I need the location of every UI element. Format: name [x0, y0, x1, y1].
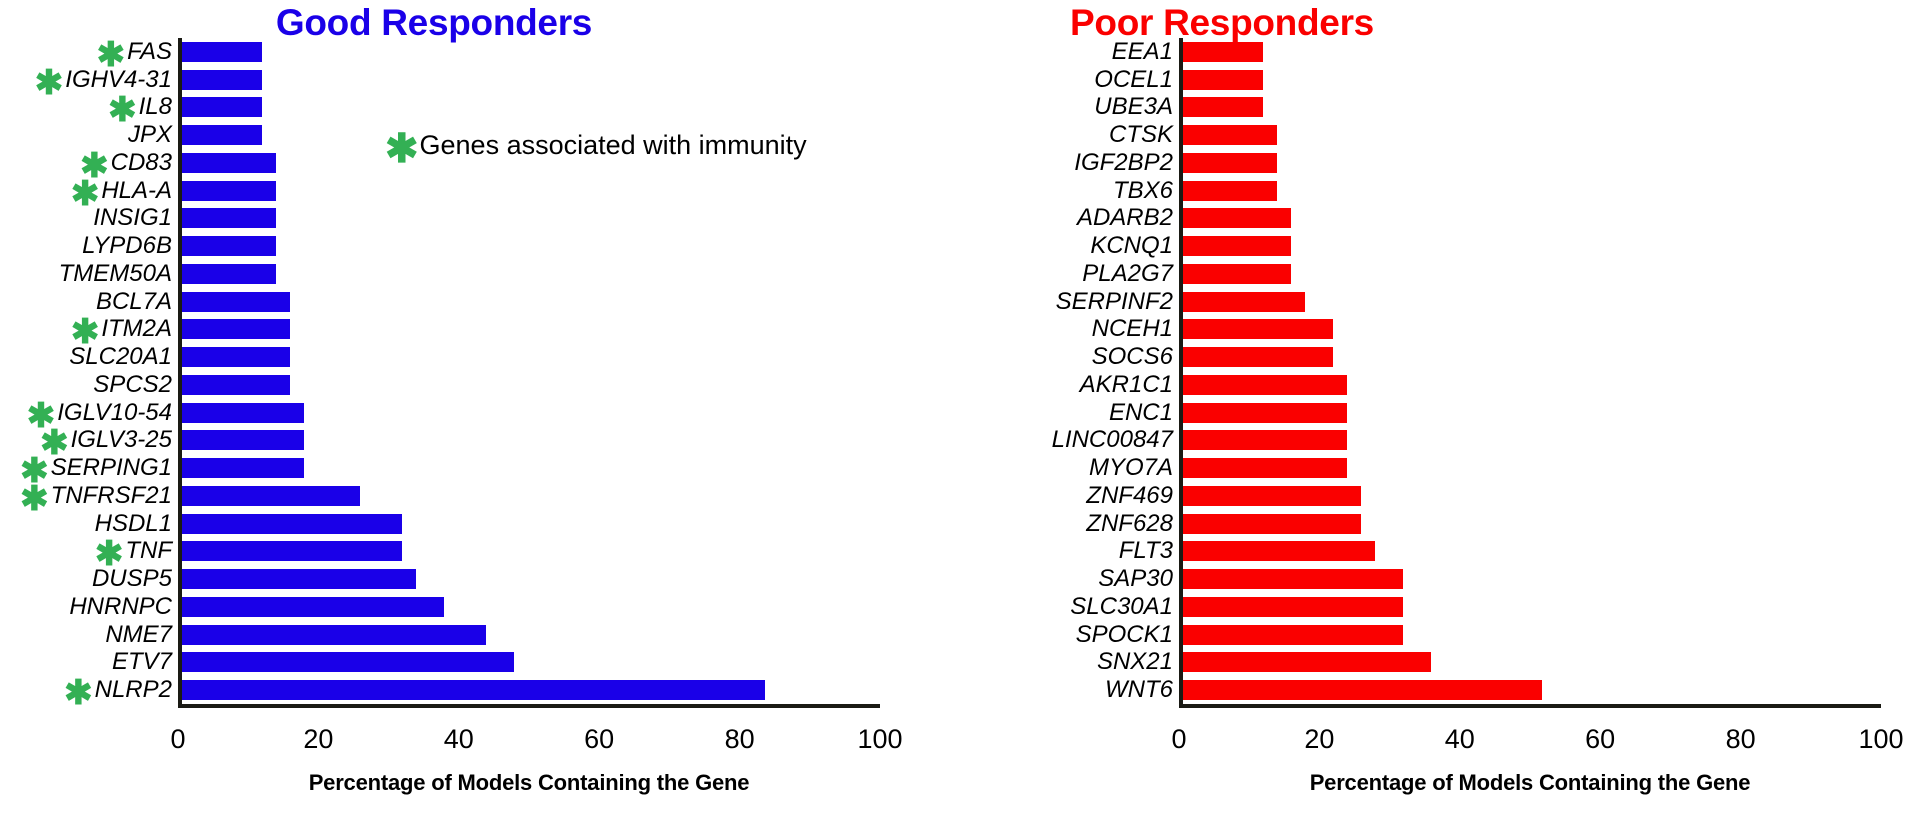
- y-axis-label-row: AKR1C1: [915, 371, 1175, 399]
- bar-insig1: [182, 208, 276, 228]
- x-axis-title-good: Percentage of Models Containing the Gene: [178, 770, 880, 796]
- bar-jpx: [182, 125, 262, 145]
- y-axis-label-row: SOCS6: [915, 343, 1175, 371]
- bar-spcs2: [182, 375, 290, 395]
- bar-iglv3-25: [182, 430, 304, 450]
- y-axis-label-row: ✱TNFRSF21: [0, 482, 174, 510]
- bar-row: [1183, 454, 1881, 482]
- bar-znf469: [1183, 486, 1361, 506]
- panel-poor-responders: Poor Responders EEA1OCEL1UBE3ACTSKIGF2BP…: [958, 0, 1916, 815]
- bar-row: [1183, 121, 1881, 149]
- bar-iglv10-54: [182, 403, 304, 423]
- gene-label: CTSK: [1109, 123, 1173, 147]
- plot-area-good: ✱FAS✱IGHV4-31✱IL8JPX✱CD83✱HLA-AINSIG1LYP…: [178, 38, 880, 708]
- bar-row: [182, 288, 880, 316]
- y-axis-label-row: SPCS2: [0, 371, 174, 399]
- bar-row: [182, 343, 880, 371]
- y-axis-label-row: ETV7: [0, 649, 174, 677]
- bar-row: [1183, 288, 1881, 316]
- x-tick-label: 40: [444, 724, 474, 755]
- y-axis-label-row: LINC00847: [915, 427, 1175, 455]
- bar-hla-a: [182, 181, 276, 201]
- bar-row: [182, 454, 880, 482]
- x-tick-label: 40: [1445, 724, 1475, 755]
- bar-akr1c1: [1183, 375, 1347, 395]
- bar-row: [1183, 621, 1881, 649]
- y-axis-labels-poor: EEA1OCEL1UBE3ACTSKIGF2BP2TBX6ADARB2KCNQ1…: [915, 38, 1175, 704]
- gene-label: FLT3: [1119, 539, 1173, 563]
- bar-row: [182, 649, 880, 677]
- gene-label: SOCS6: [1092, 345, 1173, 369]
- bar-serpinf2: [1183, 292, 1305, 312]
- bar-znf628: [1183, 514, 1361, 534]
- bar-series-poor: [1183, 38, 1881, 704]
- x-tick-label: 80: [1726, 724, 1756, 755]
- x-tick-label: 60: [1585, 724, 1615, 755]
- bar-row: [1183, 399, 1881, 427]
- bar-row: [1183, 177, 1881, 205]
- bar-row: [182, 482, 880, 510]
- gene-label: SNX21: [1097, 650, 1173, 674]
- bar-tmem50a: [182, 264, 276, 284]
- y-axis-label-row: FLT3: [915, 538, 1175, 566]
- y-axis-label-row: UBE3A: [915, 94, 1175, 122]
- gene-label: TNF: [125, 539, 172, 563]
- bar-slc30a1: [1183, 597, 1403, 617]
- y-axis-label-row: ✱FAS: [0, 38, 174, 66]
- y-axis-label-row: EEA1: [915, 38, 1175, 66]
- y-axis-label-row: SPOCK1: [915, 621, 1175, 649]
- gene-label: IL8: [139, 95, 172, 119]
- bar-row: [182, 149, 880, 177]
- y-axis-label-row: ADARB2: [915, 205, 1175, 233]
- bar-row: [1183, 343, 1881, 371]
- gene-label: SLC30A1: [1070, 595, 1173, 619]
- gene-label: MYO7A: [1089, 456, 1173, 480]
- bar-il8: [182, 97, 262, 117]
- bar-row: [1183, 676, 1881, 704]
- y-axis-label-row: JPX: [0, 121, 174, 149]
- y-axis-label-row: ✱IL8: [0, 94, 174, 122]
- bar-snx21: [1183, 652, 1431, 672]
- bar-row: [182, 232, 880, 260]
- bar-enc1: [1183, 403, 1347, 423]
- gene-label: ZNF469: [1086, 484, 1173, 508]
- bar-ocel1: [1183, 70, 1263, 90]
- bar-row: [182, 676, 880, 704]
- gene-label: EEA1: [1112, 40, 1173, 64]
- y-axis-label-row: ENC1: [915, 399, 1175, 427]
- bar-dusp5: [182, 569, 416, 589]
- bar-row: [1183, 66, 1881, 94]
- gene-label: LYPD6B: [82, 234, 172, 258]
- y-axis-label-row: KCNQ1: [915, 232, 1175, 260]
- gene-label: HLA-A: [101, 179, 172, 203]
- y-axis-label-row: DUSP5: [0, 565, 174, 593]
- x-tick-label: 20: [1304, 724, 1334, 755]
- gene-label: SPOCK1: [1076, 623, 1173, 647]
- y-axis-label-row: LYPD6B: [0, 232, 174, 260]
- bar-row: [1183, 649, 1881, 677]
- gene-label: NME7: [105, 623, 172, 647]
- bar-myo7a: [1183, 458, 1347, 478]
- y-axis-label-row: SNX21: [915, 649, 1175, 677]
- bar-tnfrsf21: [182, 486, 360, 506]
- bar-linc00847: [1183, 430, 1347, 450]
- gene-label: ZNF628: [1086, 512, 1173, 536]
- gene-label: IGF2BP2: [1074, 151, 1173, 175]
- x-axis-ticks-poor: 020406080100: [1179, 708, 1881, 754]
- gene-label: TBX6: [1113, 179, 1173, 203]
- bar-row: [182, 565, 880, 593]
- gene-label: UBE3A: [1094, 95, 1173, 119]
- gene-label: ADARB2: [1077, 206, 1173, 230]
- gene-label: ENC1: [1109, 401, 1173, 425]
- gene-label: TNFRSF21: [51, 484, 172, 508]
- panel-good-responders: Good Responders ✱ Genes associated with …: [0, 0, 958, 815]
- bar-row: [1183, 538, 1881, 566]
- bar-spock1: [1183, 625, 1403, 645]
- bar-row: [182, 510, 880, 538]
- gene-label: SPCS2: [93, 373, 172, 397]
- bar-row: [182, 316, 880, 344]
- bar-nme7: [182, 625, 486, 645]
- x-axis-ticks-good: 020406080100: [178, 708, 880, 754]
- y-axis-label-row: MYO7A: [915, 454, 1175, 482]
- y-axis-label-row: ✱HLA-A: [0, 177, 174, 205]
- bar-row: [182, 399, 880, 427]
- bar-row: [1183, 482, 1881, 510]
- gene-label: KCNQ1: [1090, 234, 1173, 258]
- gene-label: NLRP2: [95, 678, 172, 702]
- bar-socs6: [1183, 347, 1333, 367]
- y-axis-label-row: CTSK: [915, 121, 1175, 149]
- bar-row: [182, 538, 880, 566]
- gene-label: TMEM50A: [59, 262, 172, 286]
- bar-row: [182, 121, 880, 149]
- gene-label: IGLV3-25: [71, 428, 172, 452]
- gene-label: WNT6: [1105, 678, 1173, 702]
- bar-row: [1183, 149, 1881, 177]
- x-tick-label: 20: [303, 724, 333, 755]
- bar-row: [182, 427, 880, 455]
- bar-row: [1183, 371, 1881, 399]
- bar-wnt6: [1183, 680, 1542, 700]
- bar-row: [182, 621, 880, 649]
- y-axis-label-row: ✱ITM2A: [0, 316, 174, 344]
- y-axis-label-row: SLC30A1: [915, 593, 1175, 621]
- bar-hsdl1: [182, 514, 402, 534]
- bar-row: [182, 94, 880, 122]
- bar-sap30: [1183, 569, 1403, 589]
- y-axis-label-row: SERPINF2: [915, 288, 1175, 316]
- bar-ctsk: [1183, 125, 1277, 145]
- y-axis-label-row: NCEH1: [915, 316, 1175, 344]
- y-axis-label-row: ZNF469: [915, 482, 1175, 510]
- y-axis-label-row: IGF2BP2: [915, 149, 1175, 177]
- x-tick-label: 100: [857, 724, 902, 755]
- gene-label: NCEH1: [1092, 317, 1173, 341]
- x-tick-label: 80: [725, 724, 755, 755]
- plot-area-poor: EEA1OCEL1UBE3ACTSKIGF2BP2TBX6ADARB2KCNQ1…: [1179, 38, 1881, 708]
- bar-row: [182, 177, 880, 205]
- y-axis-label-row: TBX6: [915, 177, 1175, 205]
- gene-label: HSDL1: [95, 512, 172, 536]
- bar-ighv4-31: [182, 70, 262, 90]
- gene-label: ITM2A: [101, 317, 172, 341]
- bar-nlrp2: [182, 680, 765, 700]
- bar-row: [182, 371, 880, 399]
- y-axis-label-row: WNT6: [915, 676, 1175, 704]
- gene-label: BCL7A: [96, 290, 172, 314]
- bar-eea1: [1183, 42, 1263, 62]
- y-axis-label-row: ✱SERPING1: [0, 454, 174, 482]
- y-axis-label-row: ZNF628: [915, 510, 1175, 538]
- bar-row: [1183, 260, 1881, 288]
- gene-label: ETV7: [112, 650, 172, 674]
- bar-row: [1183, 316, 1881, 344]
- y-axis-label-row: ✱NLRP2: [0, 676, 174, 704]
- y-axis-label-row: ✱IGHV4-31: [0, 66, 174, 94]
- figure-root: Good Responders ✱ Genes associated with …: [0, 0, 1916, 815]
- bar-tbx6: [1183, 181, 1277, 201]
- x-tick-label: 60: [584, 724, 614, 755]
- bar-cd83: [182, 153, 276, 173]
- y-axis-label-row: ✱IGLV10-54: [0, 399, 174, 427]
- gene-label: OCEL1: [1094, 68, 1173, 92]
- bar-row: [182, 66, 880, 94]
- bar-ube3a: [1183, 97, 1263, 117]
- bar-row: [1183, 565, 1881, 593]
- bar-slc20a1: [182, 347, 290, 367]
- bar-nceh1: [1183, 319, 1333, 339]
- gene-label: LINC00847: [1052, 428, 1173, 452]
- y-axis-label-row: TMEM50A: [0, 260, 174, 288]
- bar-lypd6b: [182, 236, 276, 256]
- bar-row: [182, 205, 880, 233]
- gene-label: INSIG1: [93, 206, 172, 230]
- gene-label: CD83: [111, 151, 172, 175]
- gene-label: SAP30: [1098, 567, 1173, 591]
- bar-row: [1183, 427, 1881, 455]
- bar-serping1: [182, 458, 304, 478]
- y-axis-label-row: BCL7A: [0, 288, 174, 316]
- bar-etv7: [182, 652, 514, 672]
- bar-row: [1183, 94, 1881, 122]
- bar-row: [1183, 232, 1881, 260]
- gene-label: AKR1C1: [1080, 373, 1173, 397]
- gene-label: SERPINF2: [1056, 290, 1173, 314]
- bar-hnrnpc: [182, 597, 444, 617]
- bar-kcnq1: [1183, 236, 1291, 256]
- y-axis-label-row: OCEL1: [915, 66, 1175, 94]
- bar-row: [182, 260, 880, 288]
- bar-flt3: [1183, 541, 1375, 561]
- bar-adarb2: [1183, 208, 1291, 228]
- y-axis-label-row: PLA2G7: [915, 260, 1175, 288]
- bar-fas: [182, 42, 262, 62]
- x-tick-label: 100: [1858, 724, 1903, 755]
- bar-pla2g7: [1183, 264, 1291, 284]
- bar-row: [1183, 593, 1881, 621]
- bar-series-good: [182, 38, 880, 704]
- gene-label: SERPING1: [51, 456, 172, 480]
- bar-itm2a: [182, 319, 290, 339]
- y-axis-label-row: ✱TNF: [0, 538, 174, 566]
- gene-label: IGLV10-54: [57, 401, 172, 425]
- y-axis-labels-good: ✱FAS✱IGHV4-31✱IL8JPX✱CD83✱HLA-AINSIG1LYP…: [0, 38, 174, 704]
- bar-row: [1183, 38, 1881, 66]
- gene-label: FAS: [127, 40, 172, 64]
- gene-label: HNRNPC: [69, 595, 172, 619]
- y-axis-label-row: SAP30: [915, 565, 1175, 593]
- y-axis-label-row: HNRNPC: [0, 593, 174, 621]
- bar-row: [1183, 510, 1881, 538]
- bar-tnf: [182, 541, 402, 561]
- x-axis-title-poor: Percentage of Models Containing the Gene: [1179, 770, 1881, 796]
- bar-row: [1183, 205, 1881, 233]
- bar-row: [182, 593, 880, 621]
- y-axis-label-row: ✱CD83: [0, 149, 174, 177]
- gene-label: PLA2G7: [1082, 262, 1173, 286]
- bar-igf2bp2: [1183, 153, 1277, 173]
- x-tick-label: 0: [1171, 724, 1186, 755]
- y-axis-label-row: NME7: [0, 621, 174, 649]
- bar-bcl7a: [182, 292, 290, 312]
- x-tick-label: 0: [170, 724, 185, 755]
